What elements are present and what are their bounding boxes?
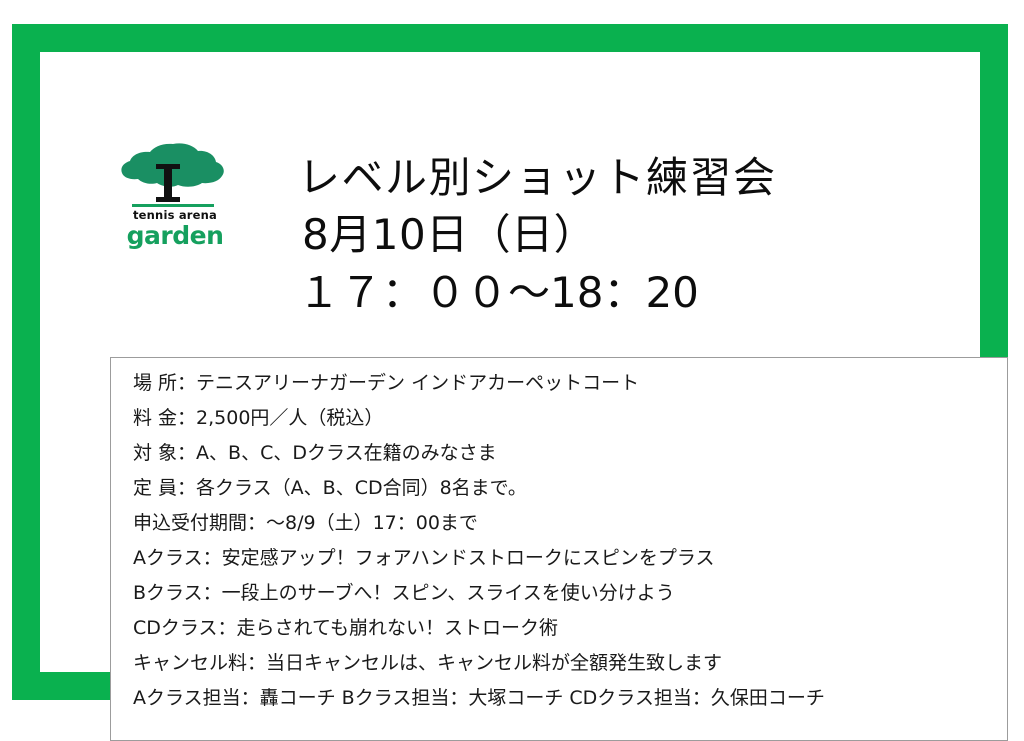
detail-line-coaches: Aクラス担当：轟コーチ Bクラス担当：大塚コーチ CDクラス担当：久保田コーチ xyxy=(133,681,997,716)
detail-line-capacity: 定 員：各クラス（A、B、CD合同）8名まで。 xyxy=(133,471,997,506)
details-list: 場 所：テニスアリーナガーデン インドアカーペットコート 料 金：2,500円／… xyxy=(133,366,997,716)
detail-line-class-cd: CDクラス：走らされても崩れない！ストローク術 xyxy=(133,611,997,646)
page-title: レベル別ショット練習会 xyxy=(298,150,777,206)
green-border-frame: tennis arena garden レベル別ショット練習会 8月10日（日）… xyxy=(12,24,1008,700)
detail-line-target: 対 象：A、B、C、Dクラス在籍のみなさま xyxy=(133,436,997,471)
logo-divider-rule xyxy=(132,204,214,207)
detail-line-class-a: Aクラス：安定感アップ！フォアハンドストロークにスピンをプラス xyxy=(133,541,997,576)
poster-root: tennis arena garden レベル別ショット練習会 8月10日（日）… xyxy=(0,0,1024,724)
detail-line-price: 料 金：2,500円／人（税込） xyxy=(133,401,997,436)
details-box: 場 所：テニスアリーナガーデン インドアカーペットコート 料 金：2,500円／… xyxy=(110,357,1008,741)
tree-icon xyxy=(118,142,228,202)
logo-wordmark: garden xyxy=(126,221,224,250)
logo-subtitle: tennis arena xyxy=(130,208,220,222)
detail-line-location: 場 所：テニスアリーナガーデン インドアカーペットコート xyxy=(133,366,997,401)
event-date: 8月10日（日） xyxy=(302,206,777,264)
title-block: レベル別ショット練習会 8月10日（日） １７：００〜18：20 xyxy=(298,150,777,322)
detail-line-deadline: 申込受付期間：〜8/9（土）17：00まで xyxy=(133,506,997,541)
poster-header: tennis arena garden レベル別ショット練習会 8月10日（日）… xyxy=(40,52,980,302)
detail-line-cancel-policy: キャンセル料：当日キャンセルは、キャンセル料が全額発生致します xyxy=(133,646,997,681)
tennis-arena-garden-logo: tennis arena garden xyxy=(118,142,238,252)
detail-line-class-b: Bクラス：一段上のサーブへ！スピン、スライスを使い分けよう xyxy=(133,576,997,611)
event-time: １７：００〜18：20 xyxy=(298,264,777,322)
